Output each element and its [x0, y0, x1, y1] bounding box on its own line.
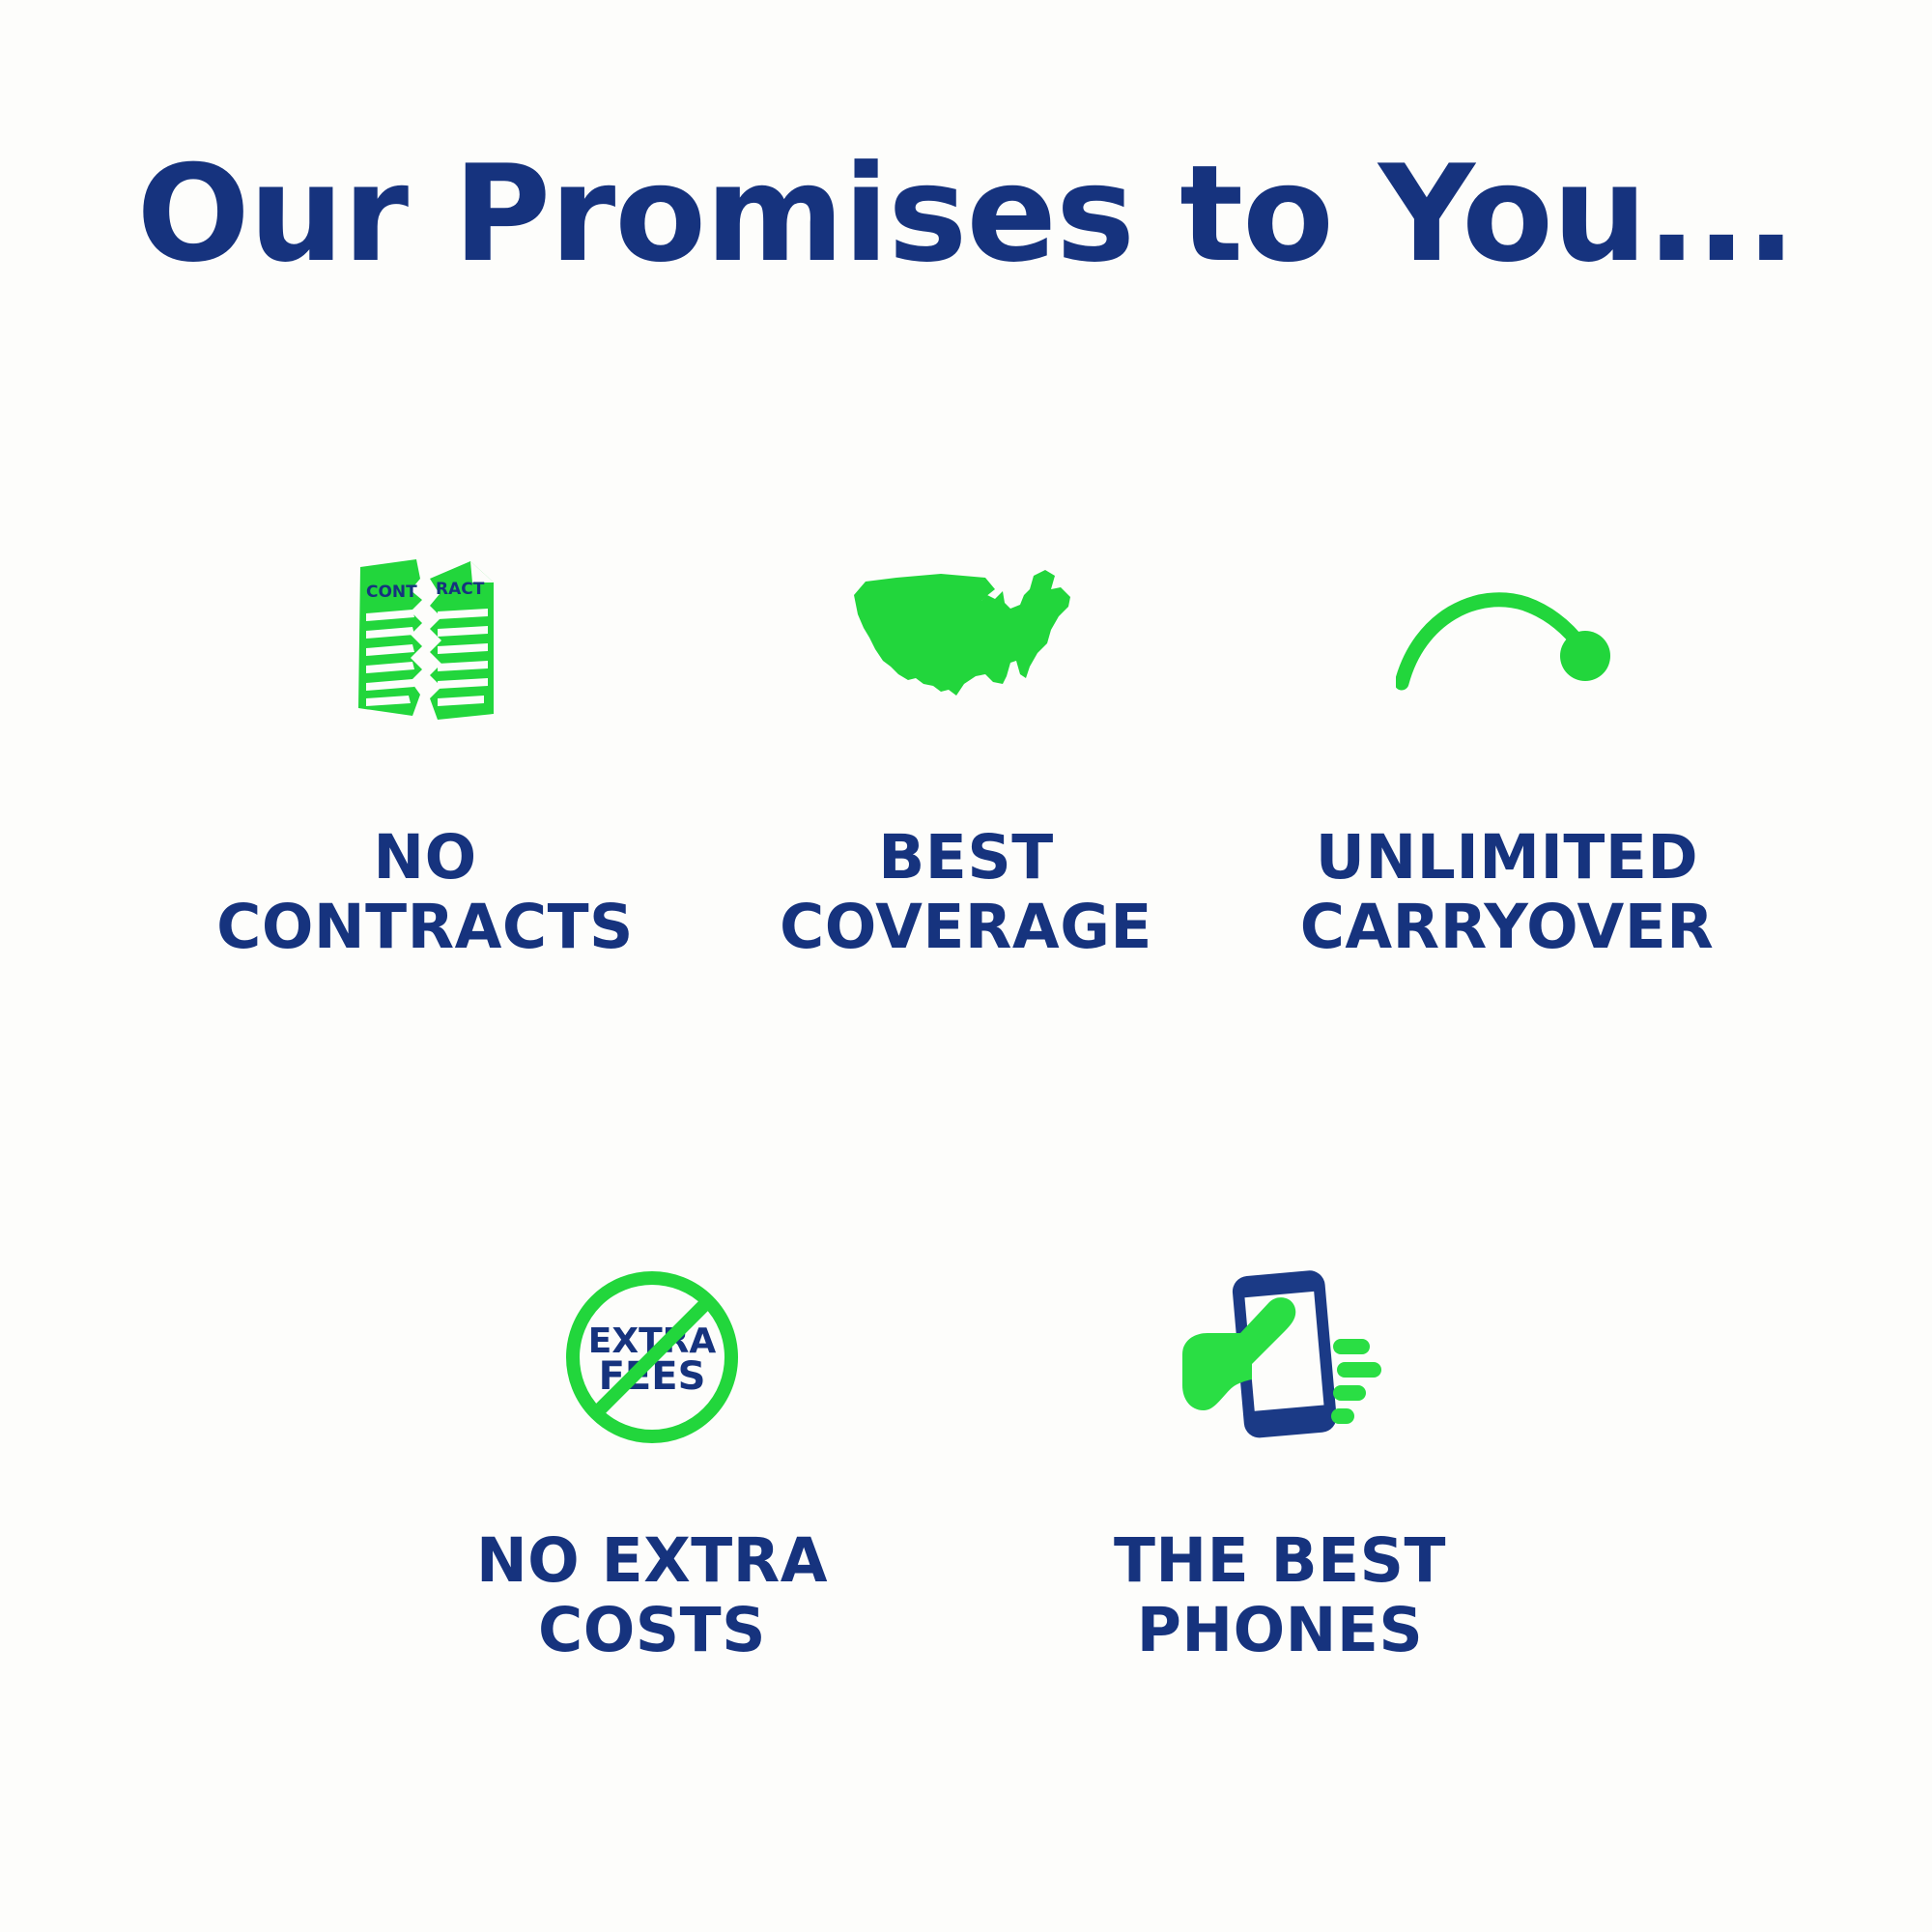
contract-text-right: RACT: [436, 580, 485, 599]
promise-label: NO CONTRACTS: [216, 823, 634, 963]
contract-text-left: CONT: [366, 582, 417, 602]
usa-map-icon: [840, 560, 1092, 715]
promise-item-no-contracts: CONT RACT NO CONTRACTS: [155, 541, 696, 963]
promise-item-unlimited-carryover: UNLIMITED CARRYOVER: [1236, 541, 1777, 963]
promise-item-best-coverage: BEST COVERAGE: [696, 541, 1236, 963]
promises-row-2: EXTRA FEES NO EXTRA COSTS: [0, 1246, 1932, 1666]
promise-label: UNLIMITED CARRYOVER: [1300, 823, 1715, 963]
promise-label: BEST COVERAGE: [780, 823, 1152, 963]
icon-container: [1177, 1246, 1384, 1468]
icon-container: EXTRA FEES: [562, 1246, 742, 1468]
icon-container: CONT RACT: [353, 541, 497, 734]
promises-page: Our Promises to You...: [0, 0, 1932, 1932]
promise-label: THE BEST PHONES: [1114, 1526, 1446, 1666]
no-extra-fees-icon: EXTRA FEES: [562, 1267, 742, 1447]
hand-holding-phone-icon: [1177, 1265, 1384, 1449]
promise-item-no-extra-costs: EXTRA FEES NO EXTRA COSTS: [338, 1246, 966, 1666]
carryover-arc-icon: [1396, 582, 1618, 694]
page-title: Our Promises to You...: [0, 145, 1932, 285]
torn-contract-icon: CONT RACT: [353, 554, 497, 723]
icon-container: [1396, 541, 1618, 734]
promise-item-the-best-phones: THE BEST PHONES: [966, 1246, 1594, 1666]
icon-container: [840, 541, 1092, 734]
promise-label: NO EXTRA COSTS: [476, 1526, 828, 1666]
promises-row-1: CONT RACT NO CONTRACTS BEST COVERAGE: [0, 541, 1932, 963]
